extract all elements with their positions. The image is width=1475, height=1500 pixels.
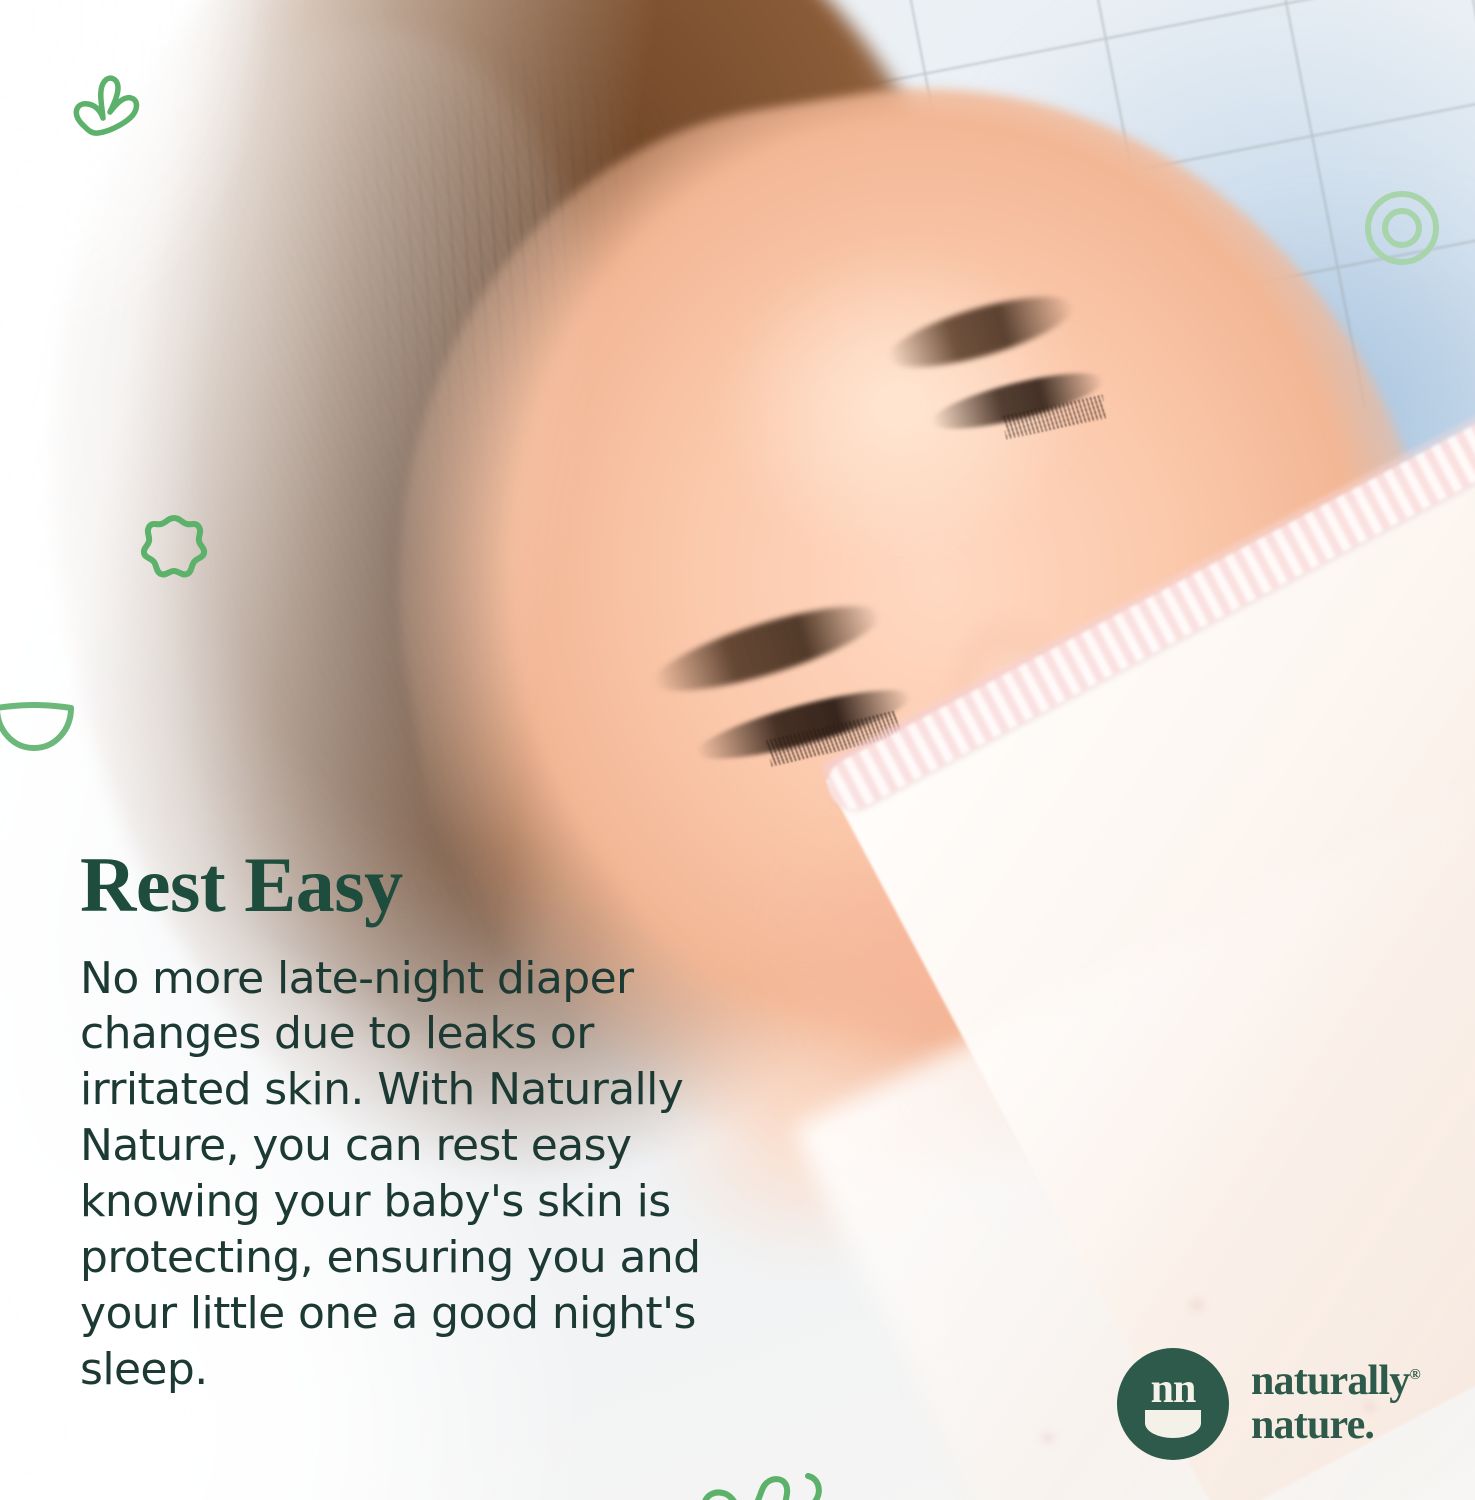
registered-trademark-symbol: ® <box>1409 1367 1420 1383</box>
half-circle-doodle <box>0 700 76 754</box>
scallop-doodle <box>138 512 210 584</box>
ad-creative: Rest Easy No more late-night diaper chan… <box>0 0 1475 1500</box>
brand-logo[interactable]: nn naturally® nature. <box>1117 1348 1421 1460</box>
copy-block: Rest Easy No more late-night diaper chan… <box>80 845 780 1398</box>
blanket-texture-dot <box>1033 1425 1063 1451</box>
body-paragraph: No more late-night diaper changes due to… <box>80 951 752 1398</box>
logo-mark-icon: nn <box>1117 1348 1229 1460</box>
sprout-doodle <box>62 68 148 146</box>
logo-smile-icon <box>1145 1410 1201 1438</box>
page-title: Rest Easy <box>80 845 780 925</box>
wordmark-line-2: nature. <box>1251 1402 1374 1448</box>
logo-initials: nn <box>1117 1368 1229 1410</box>
wordmark-line-1: naturally <box>1251 1358 1409 1404</box>
concentric-circles-doodle <box>1360 186 1444 270</box>
squiggle-doodle <box>700 1432 850 1500</box>
blanket-texture-dot <box>1180 1290 1214 1320</box>
brand-wordmark: naturally® nature. <box>1251 1360 1421 1447</box>
